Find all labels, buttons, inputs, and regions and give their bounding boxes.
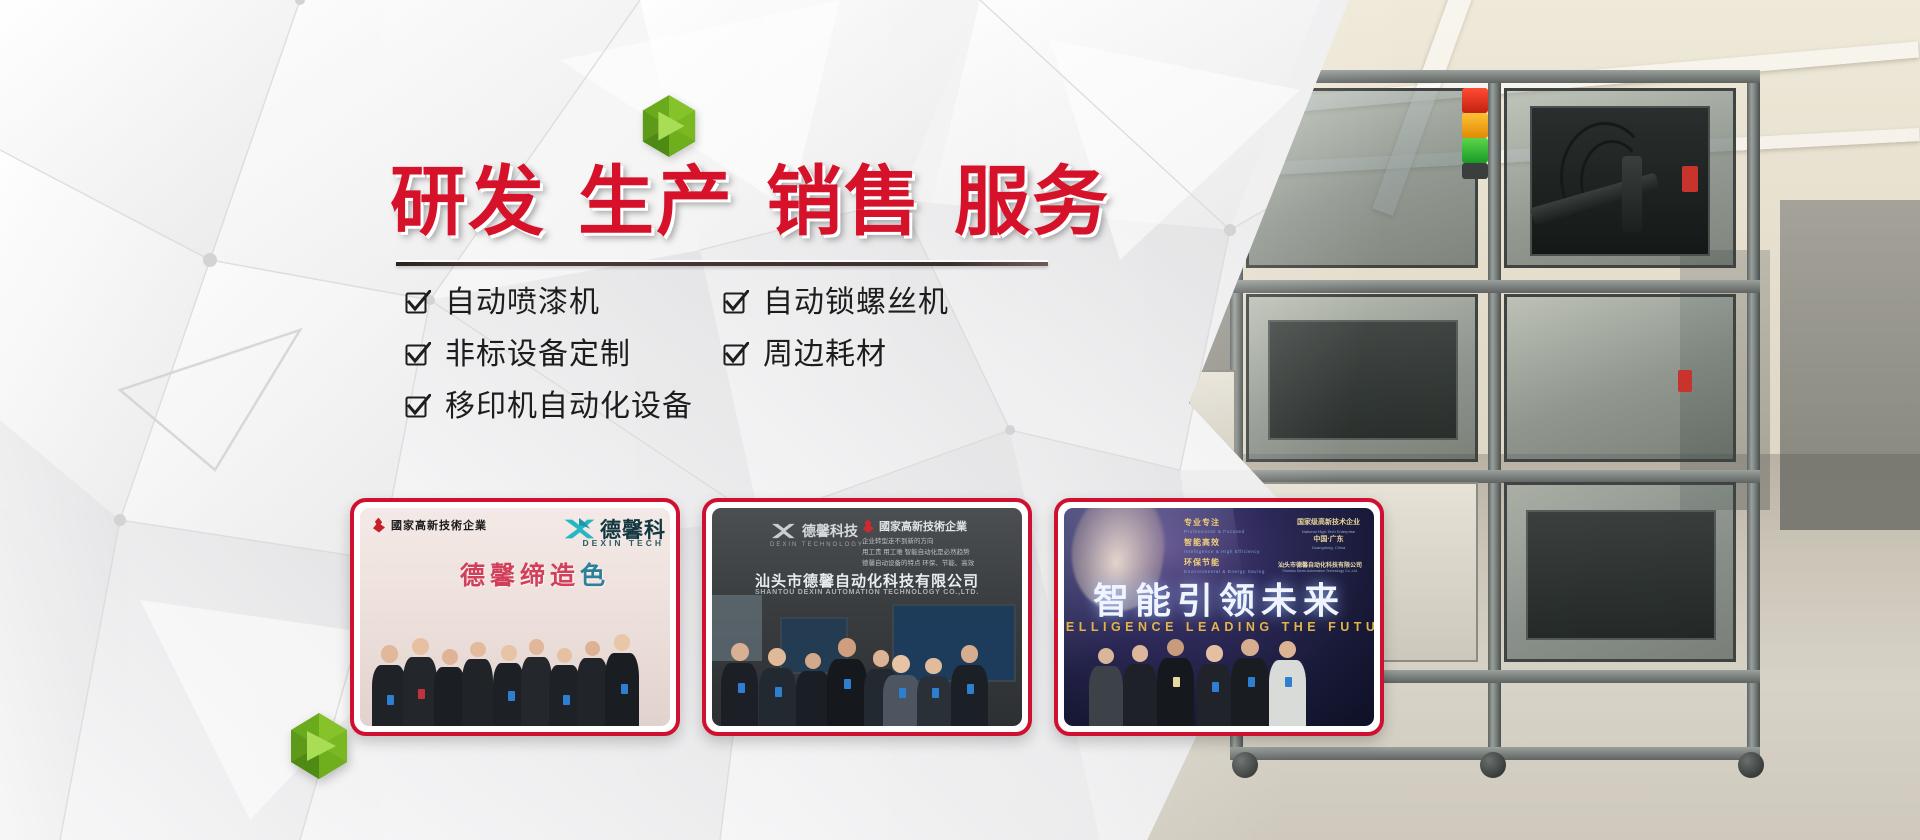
booth-slogan-tail: 色 bbox=[580, 563, 610, 590]
booth-slogan: 德馨缔造色 bbox=[460, 556, 610, 592]
feature-label: 非标设备定制 bbox=[445, 340, 631, 370]
booth-subtitle-lines: 企业转型走不到新的方向 用工贵 用工难 智能自动化是必然趋势 德馨自动设备的特点… bbox=[862, 536, 974, 569]
photo-card-team-stage-blue[interactable]: 专业专注 Professional & Focused 智能高效 Intelli… bbox=[1054, 498, 1384, 736]
feature-label: 自动锁螺丝机 bbox=[763, 288, 949, 318]
brand-name-cn: 德馨科技 bbox=[802, 521, 858, 541]
checkbox-checked-icon bbox=[723, 290, 749, 316]
company-name-cn: 汕头市德馨自动化科技有限公司 bbox=[1278, 560, 1362, 569]
high-tech-enterprise-badge: 國家高新技術企業 bbox=[862, 518, 967, 534]
feature-list: 自动喷漆机 自动锁螺丝机 非标设备定制 周边耗材 移印机自动化设备 bbox=[405, 288, 1065, 422]
booth-subtitle-line: 企业转型走不到新的方向 bbox=[862, 536, 974, 547]
checkbox-checked-icon bbox=[405, 394, 431, 420]
stage-tag-list: 专业专注 Professional & Focused 智能高效 Intelli… bbox=[1184, 518, 1265, 578]
photo-card-team-booth-white[interactable]: 國家高新技術企業 德馨科 DEXIN TECH 德馨缔造色 bbox=[350, 498, 680, 736]
team-photo-people bbox=[1064, 617, 1374, 726]
promo-banner: 研发 生产 销售 服务 自动喷漆机 自动锁螺丝机 非标设备定制 bbox=[0, 0, 1920, 840]
checkbox-checked-icon bbox=[723, 342, 749, 368]
headline-segment-4: 服务 bbox=[954, 140, 1110, 250]
flame-logo-icon bbox=[372, 518, 385, 533]
photo-card-team-booth-dark[interactable]: 德馨科技 DEXIN TECHNOLOGY 國家高新技術企業 企业转型走不到新的… bbox=[702, 498, 1032, 736]
feature-label: 周边耗材 bbox=[763, 340, 887, 370]
brand-lockup: 德馨科技 bbox=[770, 520, 858, 542]
team-photo-people bbox=[360, 604, 670, 726]
stage-tag-cn: 专业专注 bbox=[1184, 518, 1265, 529]
badge-label: 國家高新技術企業 bbox=[391, 517, 487, 533]
booth-slogan-text: 德馨缔造 bbox=[460, 563, 580, 590]
badge-label: 國家高新技術企業 bbox=[879, 518, 967, 534]
headline-segment-2: 生产 bbox=[578, 140, 734, 250]
headline-segment-1: 研发 bbox=[390, 140, 546, 250]
feature-label: 移印机自动化设备 bbox=[445, 392, 693, 422]
booth-subtitle-line: 德馨自动设备的特点 环保、节能、高效 bbox=[862, 558, 974, 569]
stage-tag-cn: 环保节能 bbox=[1184, 558, 1265, 569]
feature-label: 自动喷漆机 bbox=[445, 288, 600, 318]
company-name-cn: 汕头市德馨自动化科技有限公司 bbox=[755, 570, 979, 591]
headline-segment-3: 销售 bbox=[766, 140, 922, 250]
dexin-x-logo-icon bbox=[770, 520, 796, 542]
flame-logo-icon bbox=[862, 519, 874, 533]
booth-subtitle-line: 用工贵 用工难 智能自动化是必然趋势 bbox=[862, 547, 974, 558]
page-title: 研发 生产 销售 服务 bbox=[390, 140, 1070, 250]
stage-right-tag-list: 国家级高新技术企业 National High-Tech Enterprise … bbox=[1297, 518, 1360, 551]
stage-tag-cn: 智能高效 bbox=[1184, 538, 1265, 549]
feature-item-custom-equipment: 非标设备定制 bbox=[405, 340, 723, 370]
stage-right-tag-cn: 中国·广东 bbox=[1297, 535, 1360, 546]
feature-item-auto-screw: 自动锁螺丝机 bbox=[723, 288, 1065, 318]
stage-right-tag-en: National High-Tech Enterprise bbox=[1297, 529, 1360, 535]
photo-gallery: 國家高新技術企業 德馨科 DEXIN TECH 德馨缔造色 bbox=[350, 498, 1384, 736]
feature-item-consumables: 周边耗材 bbox=[723, 340, 1065, 370]
team-photo-people bbox=[712, 604, 1022, 726]
company-name-en: SHANTOU DEXIN AUTOMATION TECHNOLOGY CO.,… bbox=[755, 589, 979, 596]
feature-item-pad-printer: 移印机自动化设备 bbox=[405, 392, 723, 422]
brand-name-latin: DEXIN TECHNOLOGY bbox=[770, 542, 864, 548]
stage-right-tag-en: Guangdong, China bbox=[1297, 545, 1360, 551]
stage-tag-en: Professional & Focused bbox=[1184, 529, 1265, 535]
stage-tag-en: Intelligence & High Efficiency bbox=[1184, 549, 1265, 555]
title-divider bbox=[396, 262, 1048, 266]
checkbox-checked-icon bbox=[405, 342, 431, 368]
checkbox-checked-icon bbox=[405, 290, 431, 316]
brand-name-latin: DEXIN TECH bbox=[583, 538, 664, 548]
feature-item-auto-spray: 自动喷漆机 bbox=[405, 288, 723, 318]
green-hexagon-play-icon bbox=[288, 712, 350, 780]
stage-right-tag-cn: 国家级高新技术企业 bbox=[1297, 518, 1360, 529]
high-tech-enterprise-badge: 國家高新技術企業 bbox=[372, 517, 487, 533]
